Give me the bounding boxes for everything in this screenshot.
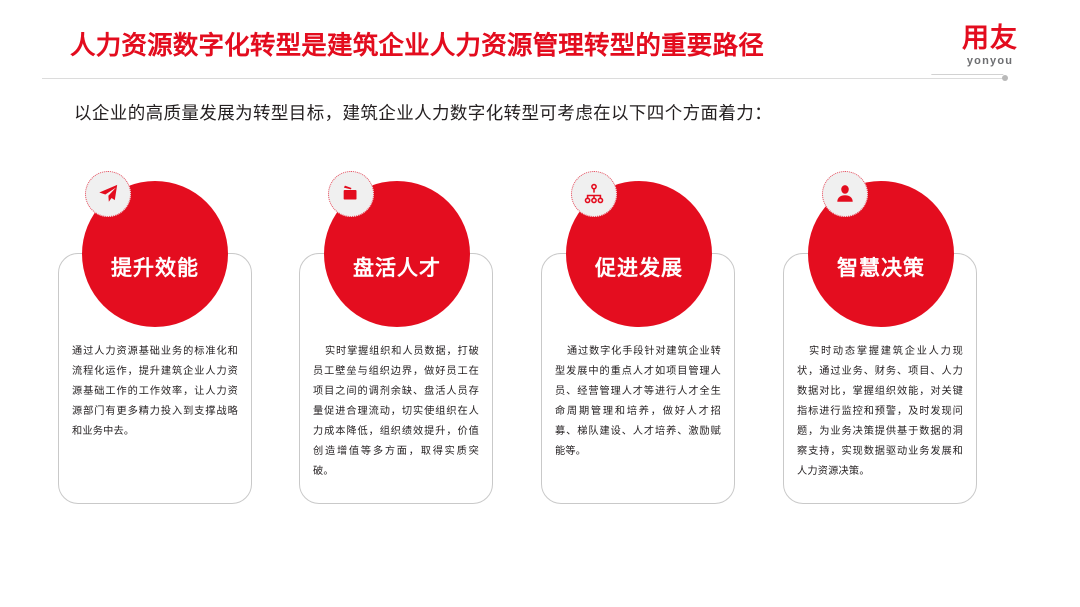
icon-badge bbox=[328, 171, 374, 217]
feature-title: 提升效能 bbox=[111, 258, 199, 279]
feature-card-group: 提升效能 盘活人才 促进发展 智慧决策 bbox=[0, 0, 1080, 607]
paper-plane-icon bbox=[97, 183, 119, 205]
icon-badge bbox=[822, 171, 868, 217]
feature-description: 实时动态掌握建筑企业人力现状，通过业务、财务、项目、人力数据对比，掌握组织效能，… bbox=[797, 342, 963, 482]
icon-badge bbox=[85, 171, 131, 217]
feature-description: 通过人力资源基础业务的标准化和流程化运作，提升建筑企业人力资源基础工作的工作效率… bbox=[72, 342, 238, 442]
feature-title: 盘活人才 bbox=[353, 258, 441, 279]
briefcase-icon bbox=[340, 183, 362, 205]
feature-description: 实时掌握组织和人员数据，打破员工壁垒与组织边界，做好员工在项目之间的调剂余缺、盘… bbox=[313, 342, 479, 482]
org-chart-icon bbox=[583, 183, 605, 205]
feature-title: 促进发展 bbox=[595, 258, 683, 279]
feature-description: 通过数字化手段针对建筑企业转型发展中的重点人才如项目管理人员、经营管理人才等进行… bbox=[555, 342, 721, 462]
feature-title: 智慧决策 bbox=[837, 258, 925, 279]
user-person-icon bbox=[834, 183, 856, 205]
icon-badge bbox=[571, 171, 617, 217]
